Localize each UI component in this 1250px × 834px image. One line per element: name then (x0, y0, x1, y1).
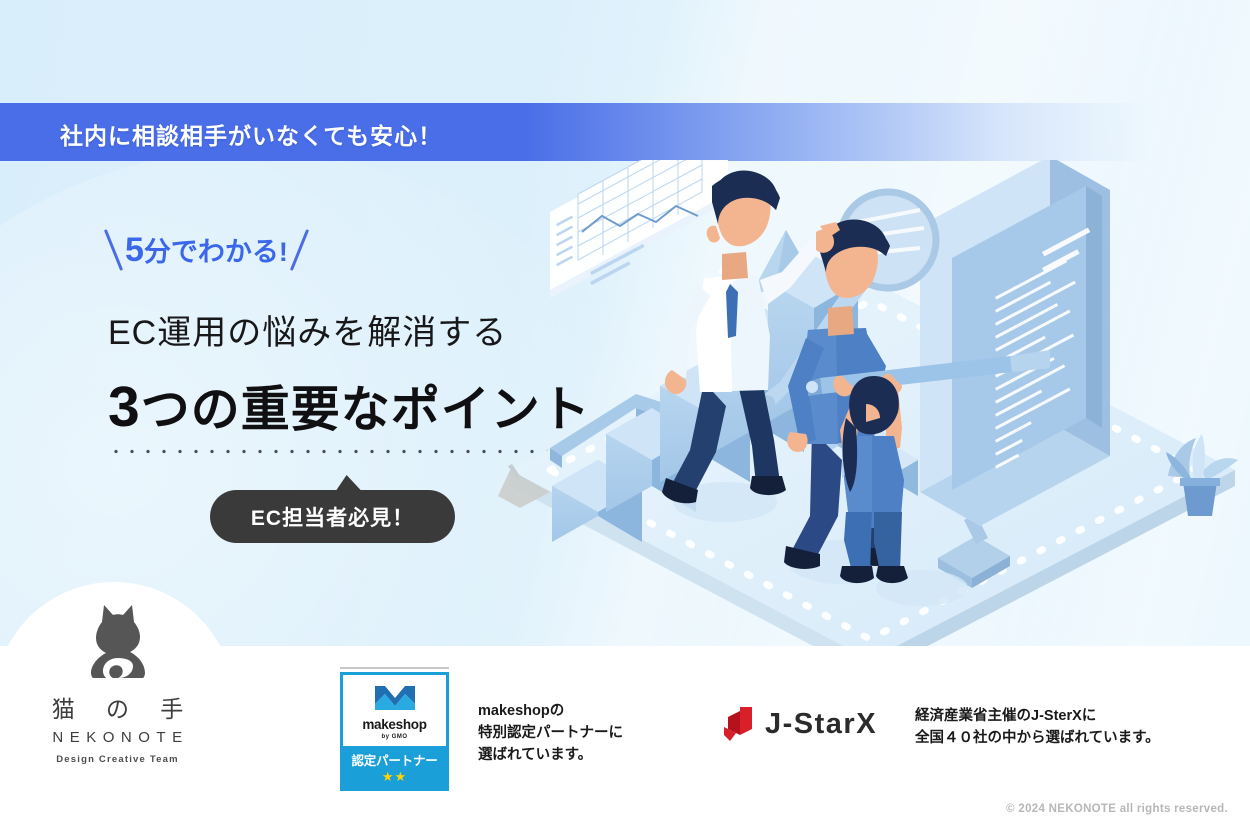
makeshop-description-line-3: 選ばれています。 (478, 744, 623, 766)
jstarx-description-line-1: 経済産業省主催のJ-SterXに (915, 705, 1160, 727)
hero-illustration (490, 160, 1250, 650)
top-banner-text: 社内に相談相手がいなくても安心！ (60, 117, 442, 151)
headline-number: 3 (108, 375, 141, 439)
nekonote-logo: 猫 の 手 NEKONOTE Design Creative Team (20, 600, 215, 765)
callout-bubble: EC担当者必見！ (210, 490, 455, 543)
logo-jp-name: 猫 の 手 (20, 690, 215, 724)
eyebrow-rest: 分でわかる! (144, 237, 288, 267)
logo-en-name: NEKONOTE (20, 729, 215, 746)
makeshop-description-line-1: makeshopの (478, 700, 623, 722)
makeshop-description-line-2: 特別認定パートナーに (478, 722, 623, 744)
poster-canvas: 社内に相談相手がいなくても安心！ 5分でわかる! EC運用の悩みを解消する 3つ… (0, 0, 1250, 834)
jstarx-logo: J-StarX (722, 705, 877, 743)
callout-bubble-label: EC担当者必見！ (251, 502, 414, 532)
cat-silhouette-icon (85, 600, 151, 678)
badge-card: makeshop by GMO 認定パートナー ★★ (340, 672, 449, 791)
makeshop-description: makeshopの 特別認定パートナーに 選ばれています。 (478, 700, 623, 766)
badge-brand-name: makeshop (347, 717, 442, 732)
eyebrow-text: 5分でわかる! (125, 230, 288, 270)
badge-card-bottom: 認定パートナー ★★ (343, 746, 446, 788)
jstarx-description: 経済産業省主催のJ-SterXに 全国４０社の中から選ばれています。 (915, 705, 1160, 749)
bubble-tail-icon (334, 475, 366, 493)
jstarx-description-line-2: 全国４０社の中から選ばれています。 (915, 727, 1160, 749)
logo-tagline: Design Creative Team (20, 754, 215, 765)
badge-stars: ★★ (345, 770, 444, 783)
makeshop-partner-badge: makeshop by GMO 認定パートナー ★★ (340, 667, 449, 791)
badge-top-rule (340, 667, 449, 669)
makeshop-m-icon (373, 684, 417, 712)
jstarx-wordmark: J-StarX (765, 708, 877, 741)
eyebrow-number: 5 (125, 231, 144, 269)
badge-card-top: makeshop by GMO (343, 675, 446, 746)
eyebrow-group: 5分でわかる! (112, 228, 301, 272)
headline-line-1: EC運用の悩みを解消する (108, 305, 507, 354)
copyright-text: © 2024 NEKONOTE all rights reserved. (1006, 803, 1228, 815)
badge-bottom-label: 認定パートナー (345, 750, 444, 769)
jstarx-flag-icon (722, 705, 758, 743)
badge-brand-by: by GMO (347, 734, 442, 740)
